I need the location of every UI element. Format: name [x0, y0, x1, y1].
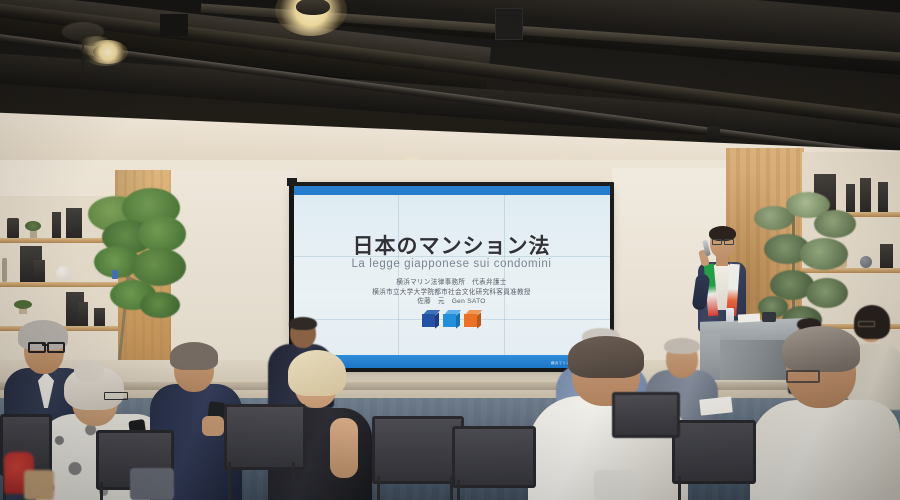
handout-paper	[699, 396, 732, 415]
decor-vase	[34, 260, 45, 282]
slide-subtitle: La legge giapponese sui condomini	[293, 258, 610, 270]
person-hand	[202, 416, 224, 436]
decor-plant	[24, 221, 41, 238]
panel-seam	[504, 195, 505, 355]
tote-bag	[24, 470, 54, 500]
water-bottle	[726, 308, 734, 322]
person-glasses-icon	[858, 321, 875, 327]
decor-vase	[878, 182, 888, 212]
panel-seam	[398, 195, 399, 355]
chair[interactable]	[452, 426, 530, 500]
slide-top-bar	[293, 186, 610, 195]
decor-sphere	[56, 266, 71, 281]
person-hair	[568, 336, 644, 378]
decor-plant	[14, 300, 32, 314]
podium-monitor	[762, 312, 776, 322]
ceiling-fixture	[495, 8, 523, 40]
person-glasses-icon	[786, 370, 820, 383]
decor-vase	[860, 178, 871, 212]
person-glasses-icon	[28, 342, 62, 349]
spotlight-glow	[88, 40, 128, 64]
screen-mount	[287, 178, 297, 186]
person-hair	[782, 326, 860, 372]
slide-logo-cubes	[293, 310, 610, 327]
bag	[130, 468, 174, 500]
slide-title: 日本のマンション法	[293, 230, 610, 260]
decor-vase	[880, 244, 893, 268]
decor-vase	[7, 218, 19, 238]
chair[interactable]	[612, 392, 674, 438]
bag-white	[594, 470, 638, 500]
chair[interactable]	[672, 420, 750, 500]
chair[interactable]	[372, 416, 458, 500]
person-hair	[170, 342, 218, 370]
plant-tag	[112, 270, 118, 279]
person-hair-blonde	[288, 350, 346, 396]
slide-presenter-block: 横浜マリン法律事務所 代表弁護士 横浜市立大学大学院都市社会文化研究科客員准教授…	[293, 278, 610, 307]
slide-affiliation-2: 横浜市立大学大学院都市社会文化研究科客員准教授	[293, 288, 610, 298]
decor-vase	[52, 212, 61, 238]
decor-object	[2, 258, 7, 282]
slide-affiliation-1: 横浜マリン法律事務所 代表弁護士	[293, 278, 610, 288]
speaker-glasses-icon	[712, 239, 733, 243]
ceiling-fixture	[160, 14, 188, 36]
cube-dark-blue-icon	[422, 310, 439, 327]
conference-photo-scene: 日本のマンション法 La legge giapponese sui condom…	[0, 0, 900, 500]
cube-bright-blue-icon	[443, 310, 460, 327]
person-arm	[330, 418, 358, 478]
person-shirt	[750, 400, 900, 500]
person-glasses-icon	[104, 392, 128, 400]
person-hair	[289, 317, 317, 330]
person-hair-bun	[74, 360, 104, 382]
audience-member-light-shirt-right	[750, 336, 900, 500]
slide-presenter-name: 佐藤 元 Gen SATO	[293, 297, 610, 307]
chair[interactable]	[224, 404, 300, 500]
decor-sphere	[860, 256, 872, 268]
pendant-lamp	[296, 0, 330, 15]
podium-papers	[738, 313, 760, 322]
cube-orange-icon	[464, 310, 481, 327]
